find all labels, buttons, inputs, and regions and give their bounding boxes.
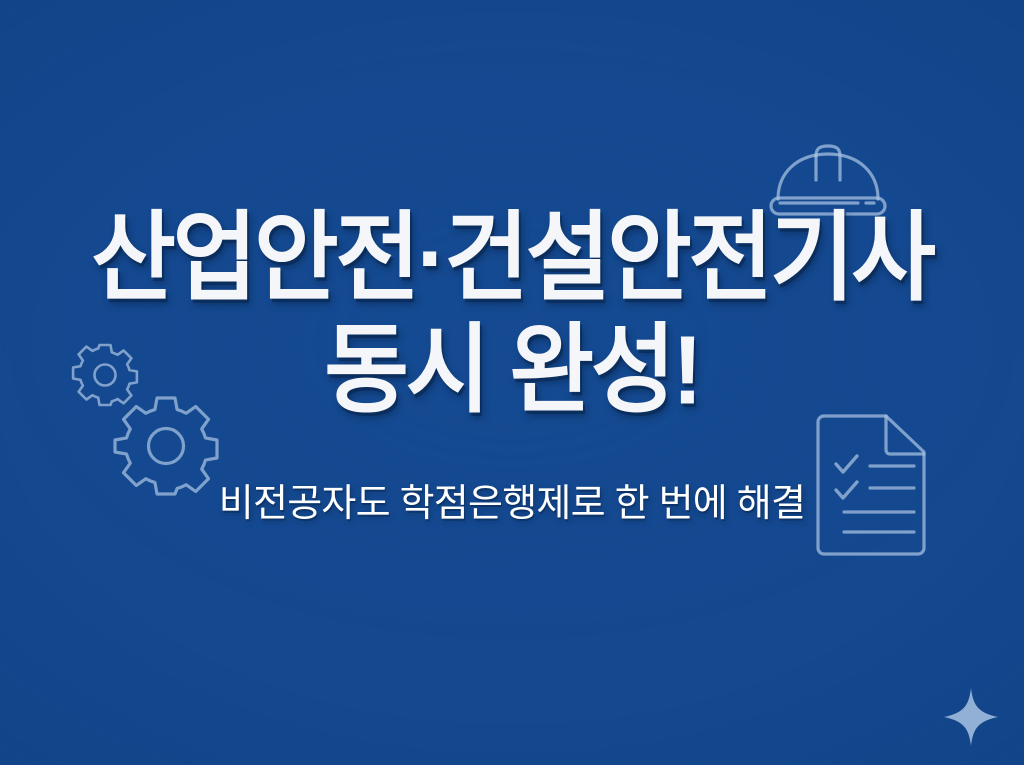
subheadline-text: 비전공자도 학점은행제로 한 번에 해결	[0, 482, 1024, 528]
sparkle-icon	[944, 688, 998, 746]
promo-banner: 산업안전·건설안전기사 동시 완성! 비전공자도 학점은행제로 한 번에 해결	[0, 0, 1024, 765]
headline-line-1: 산업안전·건설안전기사	[0, 208, 1024, 311]
headline-block: 산업안전·건설안전기사 동시 완성!	[0, 208, 1024, 417]
headline-line-2: 동시 완성!	[0, 320, 1024, 423]
